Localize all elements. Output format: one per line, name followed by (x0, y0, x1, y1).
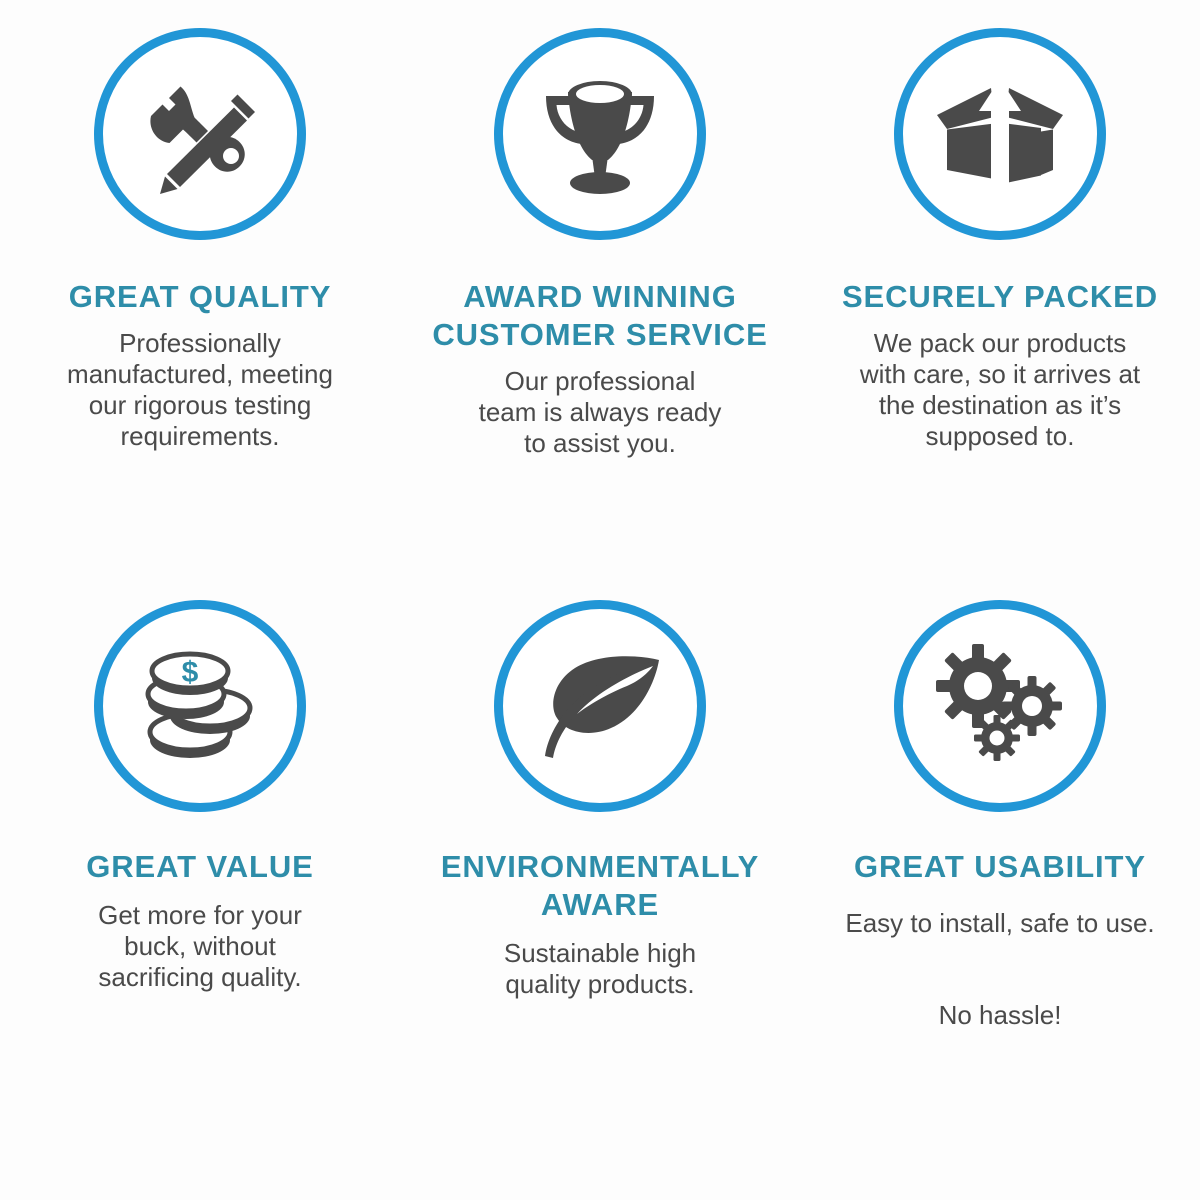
feature-card-great-usability: GREAT USABILITY Easy to install, safe to… (800, 600, 1200, 1172)
feature-card-great-quality: GREAT QUALITY Professionally manufacture… (0, 28, 400, 600)
icon-circle-environmentally-aware (494, 600, 706, 812)
feature-description: Easy to install, safe to use. No hassle! (845, 900, 1154, 1038)
features-grid: GREAT QUALITY Professionally manufacture… (0, 0, 1200, 1200)
feature-card-great-value: $ GREAT VALUE Get more for your buck, wi… (0, 600, 400, 1172)
feature-title: AWARD WINNING CUSTOMER SERVICE (432, 278, 767, 354)
coins-dollar-icon: $ (138, 644, 262, 768)
feature-title: SECURELY PACKED (842, 278, 1158, 316)
trophy-icon (534, 68, 666, 200)
feature-title: GREAT USABILITY (854, 848, 1146, 886)
feature-description: Professionally manufactured, meeting our… (67, 328, 333, 452)
feature-card-environmentally-aware: ENVIRONMENTALLY AWARE Sustainable high q… (400, 600, 800, 1172)
open-box-icon (933, 71, 1067, 197)
svg-text:$: $ (182, 656, 199, 689)
feature-description: Sustainable high quality products. (504, 938, 696, 1000)
feature-description: We pack our products with care, so it ar… (860, 328, 1140, 452)
icon-circle-great-quality (94, 28, 306, 240)
gears-icon (934, 644, 1066, 768)
feature-description: Our professional team is always ready to… (479, 366, 722, 459)
feature-card-securely-packed: SECURELY PACKED We pack our products wit… (800, 28, 1200, 600)
icon-circle-award-winning-customer-service (494, 28, 706, 240)
icon-circle-great-value: $ (94, 600, 306, 812)
leaf-icon (535, 644, 665, 768)
wrench-pencil-icon (136, 70, 264, 198)
icon-circle-great-usability (894, 600, 1106, 812)
feature-description: Get more for your buck, without sacrific… (98, 900, 302, 993)
feature-card-award-winning-customer-service: AWARD WINNING CUSTOMER SERVICE Our profe… (400, 28, 800, 600)
feature-title: GREAT QUALITY (69, 278, 332, 316)
icon-circle-securely-packed (894, 28, 1106, 240)
feature-title: ENVIRONMENTALLY AWARE (441, 848, 759, 924)
feature-title: GREAT VALUE (86, 848, 313, 886)
